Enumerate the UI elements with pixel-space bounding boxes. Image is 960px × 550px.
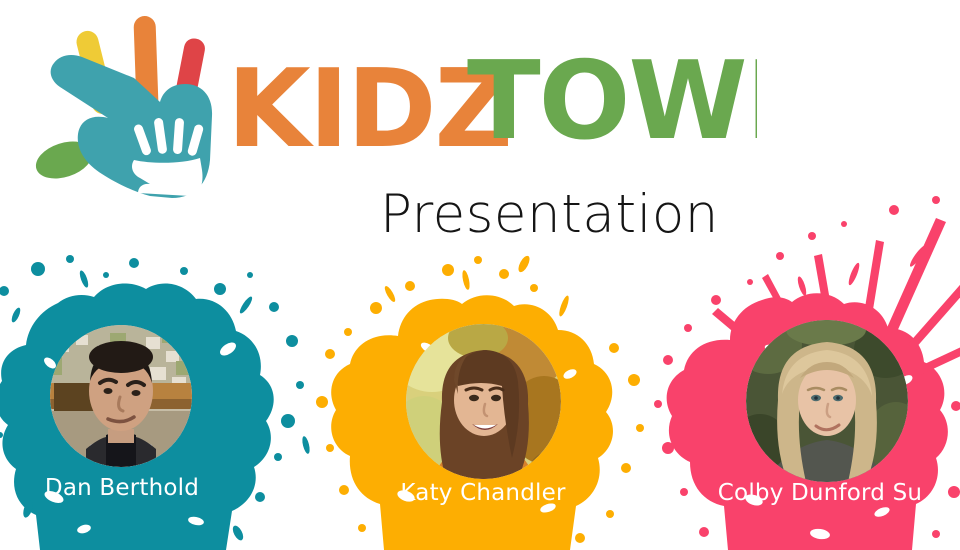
logo-word-town: TOWN bbox=[467, 50, 757, 164]
person-name: Colby Dunford Su bbox=[670, 480, 960, 506]
kidztown-hand-logo-icon bbox=[22, 8, 222, 198]
person-card-dan-berthold: Dan Berthold bbox=[0, 245, 318, 550]
person-card-colby-dunford-su: Colby Dunford Su bbox=[650, 182, 960, 550]
person-name: Dan Berthold bbox=[0, 475, 256, 501]
kidztown-logo: KIDZ TOWN bbox=[22, 8, 762, 198]
person-name: Katy Chandler bbox=[338, 480, 628, 506]
avatar-colby-dunford-su bbox=[746, 320, 908, 482]
kidztown-wordmark: KIDZ TOWN bbox=[227, 50, 757, 170]
avatar-katy-chandler bbox=[406, 324, 561, 479]
avatar-dan-berthold bbox=[50, 325, 192, 467]
presentation-slide: KIDZ TOWN Presentation bbox=[0, 0, 960, 550]
person-card-katy-chandler: Katy Chandler bbox=[318, 252, 648, 550]
